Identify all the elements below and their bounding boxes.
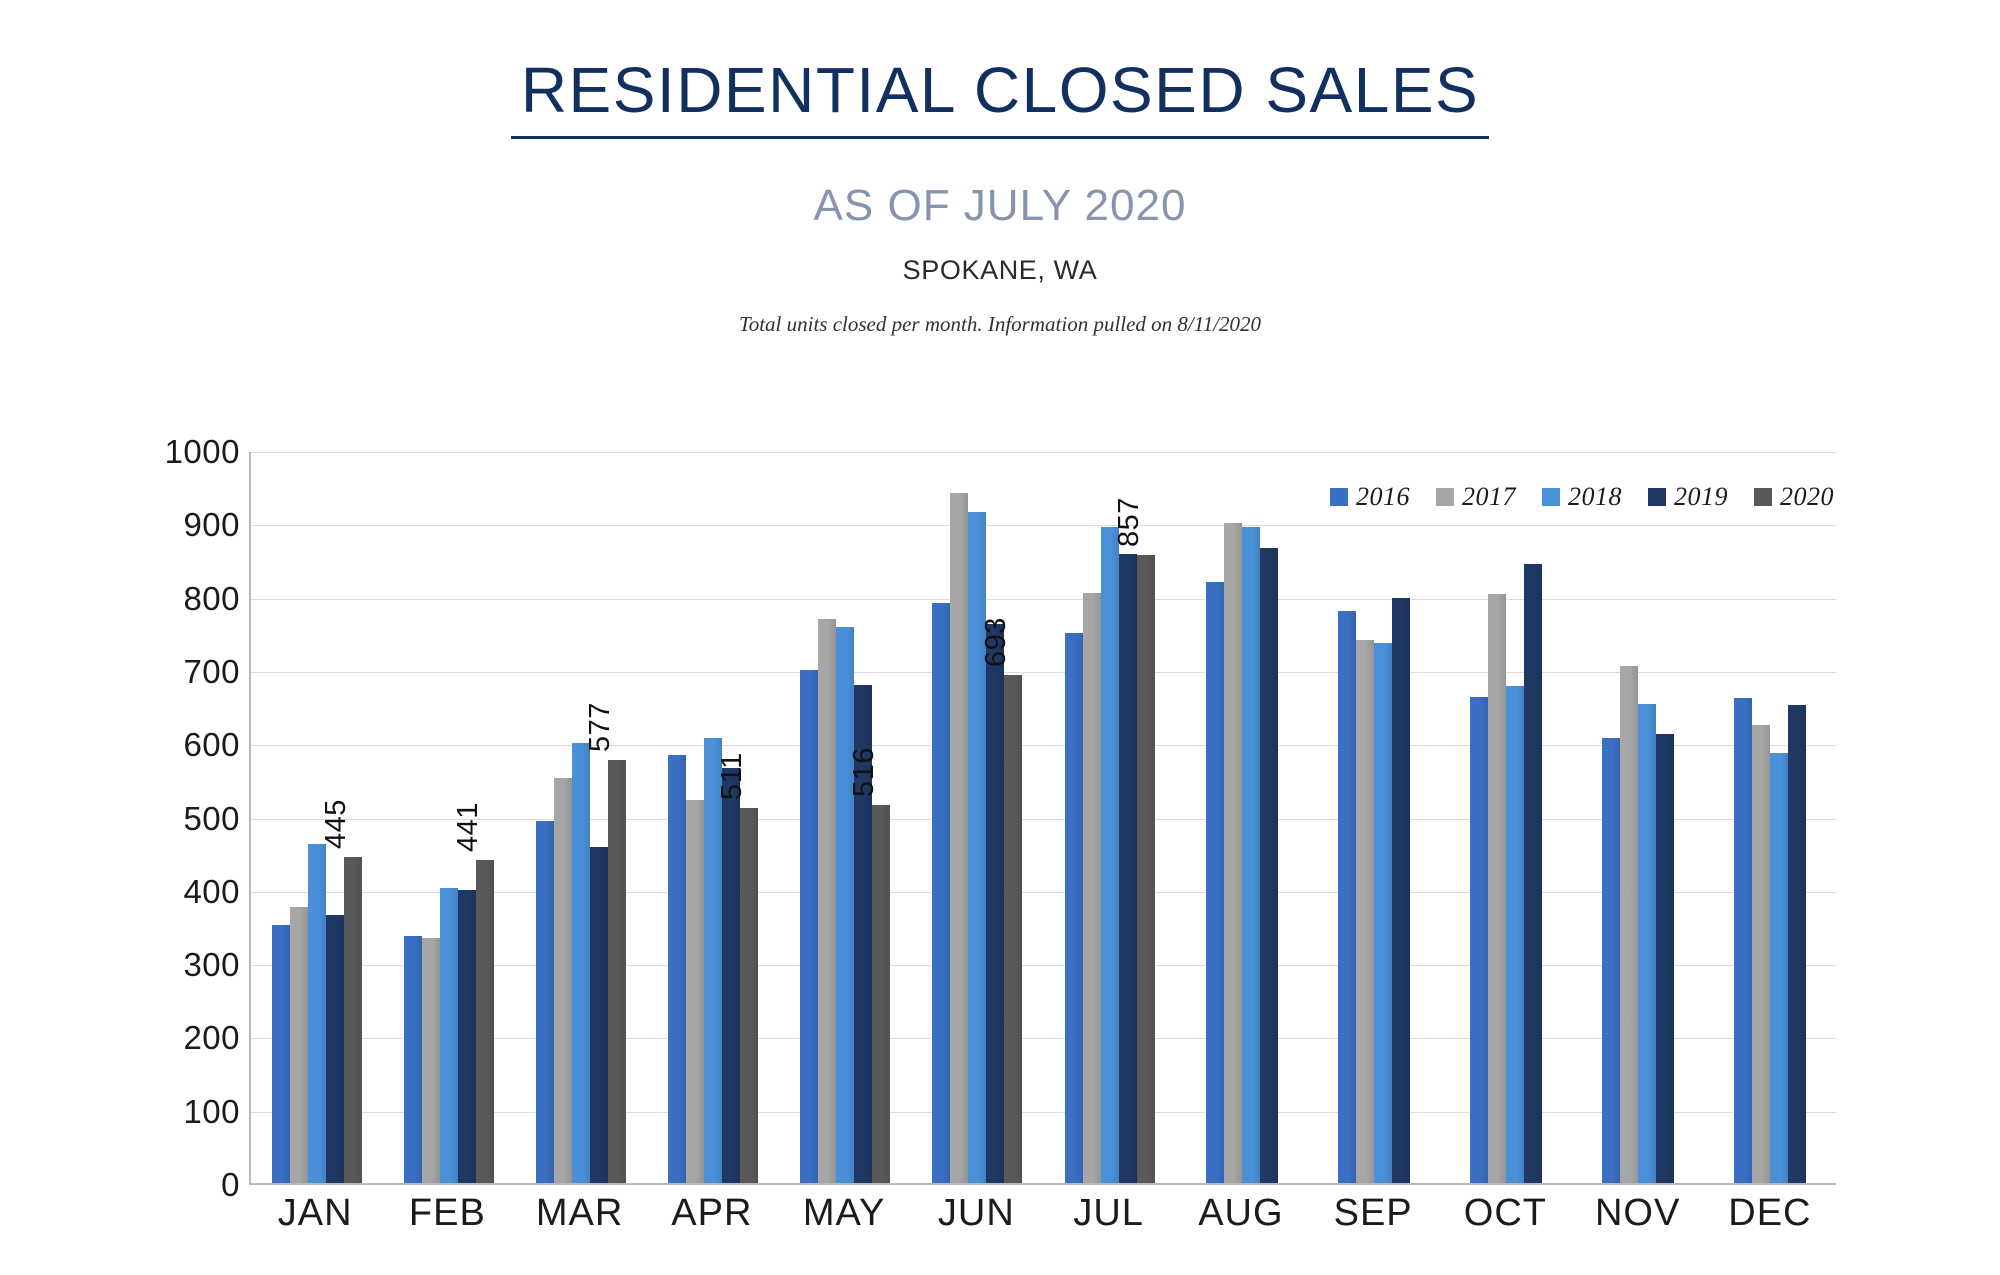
bar-sep-2019[interactable] — [1392, 598, 1410, 1183]
bar-may-2020[interactable]: 516 — [872, 805, 890, 1183]
bar-apr-2018[interactable] — [704, 738, 722, 1183]
bar-jan-2019[interactable] — [326, 915, 344, 1183]
legend-swatch-icon — [1754, 488, 1772, 506]
plot-area: 445441577511516693857 — [249, 452, 1836, 1185]
bar-jan-2018[interactable] — [308, 844, 326, 1183]
bar-aug-2019[interactable] — [1260, 548, 1278, 1183]
legend-label: 2019 — [1674, 482, 1728, 512]
bar-mar-2018[interactable] — [572, 743, 590, 1183]
x-axis-tick-aug: AUG — [1175, 1192, 1307, 1235]
bar-apr-2019[interactable] — [722, 768, 740, 1183]
bar-oct-2018[interactable] — [1506, 686, 1524, 1183]
bar-apr-2016[interactable] — [668, 755, 686, 1183]
legend-item-2018[interactable]: 2018 — [1542, 482, 1622, 512]
bar-value-label: 693 — [980, 617, 1013, 667]
legend-item-2019[interactable]: 2019 — [1648, 482, 1728, 512]
bar-dec-2019[interactable] — [1788, 705, 1806, 1183]
y-axis-tick: 400 — [183, 873, 240, 911]
y-axis-tick: 500 — [183, 800, 240, 838]
bar-group-oct — [1440, 452, 1572, 1183]
bar-dec-2018[interactable] — [1770, 753, 1788, 1183]
bar-nov-2019[interactable] — [1656, 734, 1674, 1183]
chart-subtitle: AS OF JULY 2020 — [0, 181, 2000, 231]
x-axis-tick-feb: FEB — [381, 1192, 513, 1235]
source-note: Total units closed per month. Informatio… — [0, 312, 2000, 337]
bar-value-label: 441 — [452, 802, 485, 852]
bar-sep-2018[interactable] — [1374, 643, 1392, 1183]
bar-may-2017[interactable] — [818, 619, 836, 1183]
bar-group-nov — [1572, 452, 1704, 1183]
x-axis-tick-may: MAY — [778, 1192, 910, 1235]
bar-jan-2017[interactable] — [290, 907, 308, 1183]
x-axis: JANFEBMARAPRMAYJUNJULAUGSEPOCTNOVDEC — [249, 1192, 1836, 1235]
bar-value-label: 445 — [320, 799, 353, 849]
y-axis-tick: 900 — [183, 506, 240, 544]
bar-jul-2019[interactable] — [1119, 554, 1137, 1183]
bar-feb-2020[interactable]: 441 — [476, 860, 494, 1183]
bar-apr-2020[interactable]: 511 — [740, 808, 758, 1183]
bar-oct-2016[interactable] — [1470, 697, 1488, 1183]
bar-jan-2020[interactable]: 445 — [344, 857, 362, 1183]
x-axis-tick-oct: OCT — [1439, 1192, 1571, 1235]
x-axis-tick-sep: SEP — [1307, 1192, 1439, 1235]
bar-jun-2017[interactable] — [950, 493, 968, 1183]
x-axis-tick-mar: MAR — [514, 1192, 646, 1235]
x-axis-tick-apr: APR — [646, 1192, 778, 1235]
bar-group-aug — [1176, 452, 1308, 1183]
bar-feb-2017[interactable] — [422, 938, 440, 1183]
bar-mar-2020[interactable]: 577 — [608, 760, 626, 1183]
bar-feb-2018[interactable] — [440, 888, 458, 1183]
bar-value-label: 511 — [716, 753, 749, 801]
legend-swatch-icon — [1648, 488, 1666, 506]
bar-jun-2019[interactable] — [986, 624, 1004, 1183]
y-axis-tick: 100 — [183, 1093, 240, 1131]
bar-apr-2017[interactable] — [686, 800, 704, 1183]
bar-jul-2020[interactable]: 857 — [1137, 555, 1155, 1183]
bar-nov-2016[interactable] — [1602, 738, 1620, 1183]
x-axis-tick-jun: JUN — [910, 1192, 1042, 1235]
y-axis-tick: 200 — [183, 1019, 240, 1057]
chart-legend: 20162017201820192020 — [1330, 482, 1834, 512]
page-title: RESIDENTIAL CLOSED SALES — [511, 58, 1489, 139]
x-axis-tick-jul: JUL — [1043, 1192, 1175, 1235]
bar-group-sep — [1308, 452, 1440, 1183]
bar-jun-2016[interactable] — [932, 603, 950, 1183]
legend-swatch-icon — [1436, 488, 1454, 506]
bar-group-jun: 693 — [911, 452, 1043, 1183]
bar-mar-2017[interactable] — [554, 778, 572, 1183]
bar-group-jan: 445 — [251, 452, 383, 1183]
y-axis-tick: 300 — [183, 946, 240, 984]
x-axis-tick-jan: JAN — [249, 1192, 381, 1235]
legend-item-2017[interactable]: 2017 — [1436, 482, 1516, 512]
bar-nov-2018[interactable] — [1638, 704, 1656, 1183]
bar-oct-2019[interactable] — [1524, 564, 1542, 1183]
y-axis-tick: 600 — [183, 726, 240, 764]
bar-jul-2017[interactable] — [1083, 593, 1101, 1183]
legend-label: 2016 — [1356, 482, 1410, 512]
bar-mar-2019[interactable] — [590, 847, 608, 1183]
y-axis-tick: 800 — [183, 580, 240, 618]
legend-item-2016[interactable]: 2016 — [1330, 482, 1410, 512]
bar-group-jul: 857 — [1043, 452, 1175, 1183]
bar-sep-2017[interactable] — [1356, 640, 1374, 1183]
bar-sep-2016[interactable] — [1338, 611, 1356, 1183]
x-axis-tick-nov: NOV — [1572, 1192, 1704, 1235]
bar-value-label: 577 — [584, 702, 617, 752]
bar-dec-2017[interactable] — [1752, 725, 1770, 1183]
bar-nov-2017[interactable] — [1620, 666, 1638, 1183]
bar-jan-2016[interactable] — [272, 925, 290, 1183]
legend-item-2020[interactable]: 2020 — [1754, 482, 1834, 512]
bar-aug-2017[interactable] — [1224, 523, 1242, 1183]
chart-header: RESIDENTIAL CLOSED SALES AS OF JULY 2020… — [0, 0, 2000, 337]
y-axis-tick: 1000 — [165, 433, 240, 471]
bar-mar-2016[interactable] — [536, 821, 554, 1183]
bar-group-feb: 441 — [383, 452, 515, 1183]
legend-label: 2017 — [1462, 482, 1516, 512]
location-label: SPOKANE, WA — [0, 255, 2000, 286]
legend-swatch-icon — [1542, 488, 1560, 506]
bar-groups: 445441577511516693857 — [251, 452, 1836, 1183]
legend-swatch-icon — [1330, 488, 1348, 506]
legend-label: 2020 — [1780, 482, 1834, 512]
x-axis-tick-dec: DEC — [1704, 1192, 1836, 1235]
bar-jul-2018[interactable] — [1101, 527, 1119, 1183]
bar-value-label: 516 — [848, 747, 881, 797]
bar-value-label: 857 — [1113, 497, 1146, 547]
y-axis: 10009008007006005004003002001000 — [140, 440, 240, 1185]
bar-group-dec — [1704, 452, 1836, 1183]
bar-jun-2020[interactable]: 693 — [1004, 675, 1022, 1183]
bar-may-2016[interactable] — [800, 670, 818, 1183]
bar-group-mar: 577 — [515, 452, 647, 1183]
bar-group-apr: 511 — [647, 452, 779, 1183]
bar-feb-2016[interactable] — [404, 936, 422, 1183]
bar-feb-2019[interactable] — [458, 890, 476, 1183]
bar-aug-2018[interactable] — [1242, 527, 1260, 1183]
bar-jul-2016[interactable] — [1065, 633, 1083, 1183]
bar-jun-2018[interactable] — [968, 512, 986, 1183]
legend-label: 2018 — [1568, 482, 1622, 512]
bar-oct-2017[interactable] — [1488, 594, 1506, 1183]
bar-aug-2016[interactable] — [1206, 582, 1224, 1183]
y-axis-tick: 700 — [183, 653, 240, 691]
y-axis-tick: 0 — [221, 1166, 240, 1204]
bar-dec-2016[interactable] — [1734, 698, 1752, 1183]
bar-may-2018[interactable] — [836, 627, 854, 1183]
bar-group-may: 516 — [779, 452, 911, 1183]
